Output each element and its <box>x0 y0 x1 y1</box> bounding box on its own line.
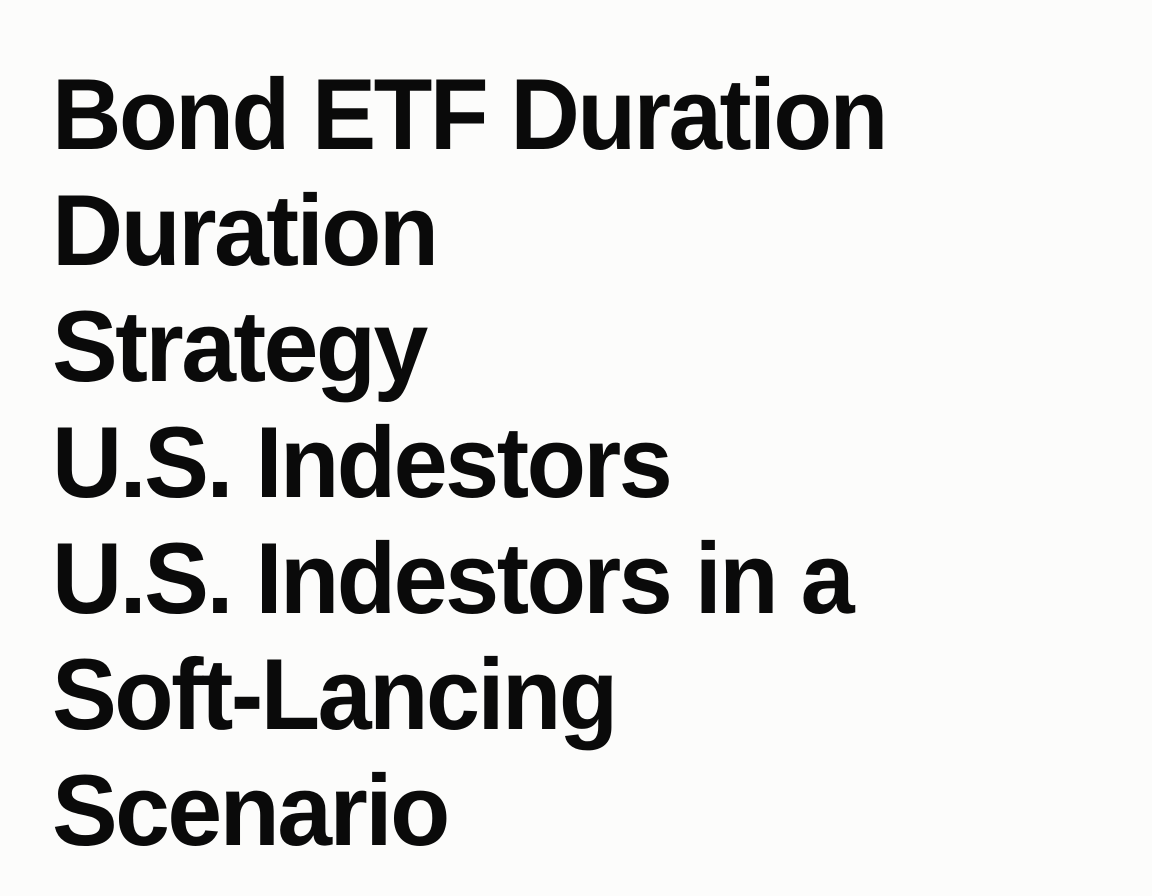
headline-line-2: Duration <box>52 173 1125 289</box>
headline-block: Bond ETF Duration Duration Strategy U.S.… <box>0 0 1152 896</box>
headline-line-4: U.S. Indestors <box>52 405 1110 521</box>
headline-line-7: Scenario <box>52 753 1125 869</box>
headline-line-1: Bond ETF Duration <box>52 57 1099 173</box>
headline-line-5: U.S. Indestors in a <box>52 521 1110 637</box>
headline-line-3: Strategy <box>52 289 1125 405</box>
headline-line-6: Soft-Lancing <box>52 637 1110 753</box>
